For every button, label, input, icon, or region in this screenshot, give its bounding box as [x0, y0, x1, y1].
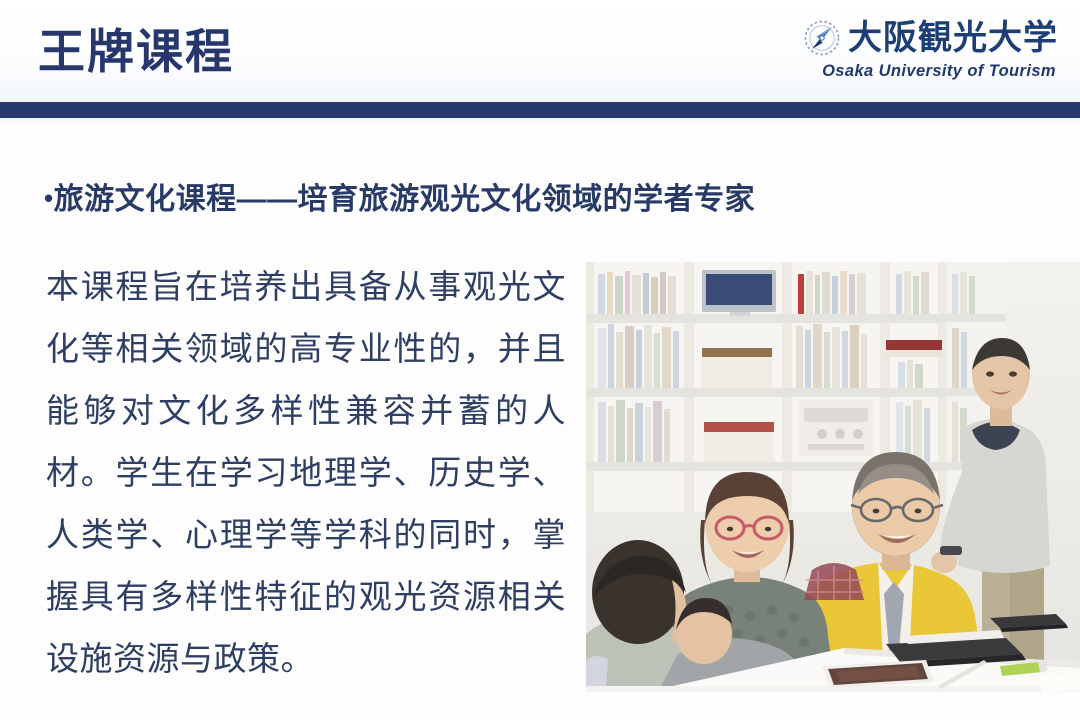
logo-japanese-name: 大阪観光大学 — [848, 21, 1058, 55]
slide-canvas: 王牌课程 大阪観光大学 Osaka Univ — [0, 0, 1080, 720]
compass-emblem-icon — [802, 18, 842, 58]
bullet-point-icon: • — [44, 183, 54, 213]
page-title: 王牌课程 — [38, 24, 234, 80]
section-heading-text: 旅游文化课程——培育旅游观光文化领域的学者专家 — [54, 183, 756, 216]
seminar-room-photo — [586, 262, 1080, 692]
logo-english-name: Osaka University of Tourism — [822, 62, 1056, 81]
slide-content: •旅游文化课程——培育旅游观光文化领域的学者专家 本课程旨在培养出具备从事观光文… — [0, 122, 1080, 720]
slide-header: 王牌课程 大阪観光大学 Osaka Univ — [0, 0, 1080, 102]
body-paragraph: 本课程旨在培养出具备从事观光文化等相关领域的高专业性的，并且能够对文化多样性兼容… — [46, 256, 566, 690]
header-rule — [0, 102, 1080, 118]
section-heading: •旅游文化课程——培育旅游观光文化领域的学者专家 — [44, 174, 755, 218]
university-logo: 大阪観光大学 Osaka University of Tourism — [802, 18, 1058, 81]
logo-top-row: 大阪観光大学 — [802, 18, 1058, 58]
